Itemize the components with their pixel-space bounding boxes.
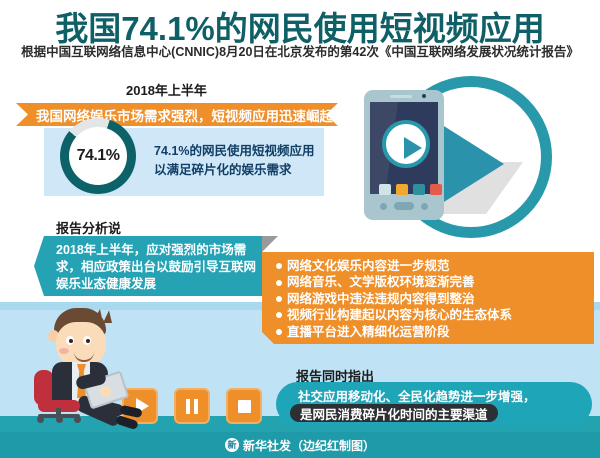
analysis-text: 2018年上半年，应对强烈的市场需求，相应政策出台以鼓励引导互联网娱乐业态健康发… [56, 242, 256, 293]
infographic-root: 我国74.1%的网民使用短视频应用 根据中国互联网络信息中心(CNNIC)8月2… [0, 0, 600, 458]
phone-speaker [390, 95, 412, 98]
phone-play-circle-icon [382, 120, 430, 168]
bullet-dot-icon [276, 263, 282, 269]
bullet-text: 网络文化娱乐内容进一步规范 [287, 258, 450, 274]
bullet-dot-icon [276, 329, 282, 335]
ribbon-fold-corner [262, 236, 278, 252]
conclusion-line1: 社交应用移动化、全民化趋势进一步增强， [298, 386, 536, 405]
bullet-text: 视频行业构建起以内容为核心的生态体系 [287, 307, 512, 323]
bullet-dot-icon [276, 280, 282, 286]
phone-app-tile-4 [430, 184, 442, 195]
list-item: 网络音乐、文学版权环境逐渐完善 [276, 274, 594, 290]
stat-description: 74.1%的网民使用短视频应用 以满足碎片化的娱乐需求 [154, 142, 314, 180]
phone-home-button [394, 202, 414, 210]
bullet-text: 直播平台进入精细化运营阶段 [287, 324, 450, 340]
bullet-panel: 网络文化娱乐内容进一步规范 网络音乐、文学版权环境逐渐完善 网络游戏中违法违规内… [262, 252, 594, 344]
footer-credit: 新华社发（边纪红制图） [243, 437, 375, 454]
stat-description-line1: 74.1%的网民使用短视频应用 [154, 142, 314, 161]
chair-wheel-2 [56, 416, 63, 423]
year-label: 2018年上半年 [126, 80, 207, 99]
phone-button-right [421, 203, 428, 210]
chair-wheel-1 [37, 416, 44, 423]
stat-description-line2: 以满足碎片化的娱乐需求 [154, 161, 314, 180]
smartphone-illustration [364, 90, 444, 220]
phone-camera-icon [422, 94, 426, 98]
phone-app-tile-3 [413, 184, 425, 195]
bullet-dot-icon [276, 312, 282, 318]
donut-chart: 74.1% [60, 118, 136, 194]
footer-band: 新 新华社发（边纪红制图） [0, 432, 600, 458]
video-illustration [340, 72, 600, 262]
donut-value-label: 74.1% [77, 147, 120, 165]
person-hand [100, 386, 111, 397]
person-pupil-right [86, 339, 90, 343]
person-cheek [59, 348, 69, 354]
list-item: 网络文化娱乐内容进一步规范 [276, 258, 594, 274]
list-item: 视频行业构建起以内容为核心的生态体系 [276, 307, 594, 323]
list-item: 网络游戏中违法违规内容得到整治 [276, 291, 594, 307]
analysis-box: 2018年上半年，应对强烈的市场需求，相应政策出台以鼓励引导互联网娱乐业态健康发… [34, 236, 262, 296]
donut-center: 74.1% [69, 127, 127, 185]
bullet-dot-icon [276, 296, 282, 302]
conclusion-box: 社交应用移动化、全民化趋势进一步增强， 是网民消费碎片化时间的主要渠道 [276, 382, 592, 426]
analysis-label: 报告分析说 [56, 218, 121, 237]
headline-ribbon: 我国网络娱乐市场需求强烈，短视频应用迅速崛起 [16, 103, 338, 126]
chair-wheel-3 [74, 416, 81, 423]
pause-button[interactable] [174, 388, 210, 424]
phone-app-tile-1 [379, 184, 391, 195]
bullet-list: 网络文化娱乐内容进一步规范 网络音乐、文学版权环境逐渐完善 网络游戏中违法违规内… [262, 252, 594, 340]
stop-button[interactable] [226, 388, 262, 424]
person-illustration [28, 308, 158, 424]
bullet-text: 网络音乐、文学版权环境逐渐完善 [287, 274, 475, 290]
agency-logo-icon: 新 [225, 438, 239, 452]
bullet-text: 网络游戏中违法违规内容得到整治 [287, 291, 475, 307]
footer-content: 新 新华社发（边纪红制图） [0, 432, 600, 458]
conclusion-highlight: 是网民消费碎片化时间的主要渠道 [290, 404, 498, 422]
phone-button-left [380, 203, 387, 210]
conclusion-line2: 是网民消费碎片化时间的主要渠道 [300, 404, 488, 423]
pause-icon [186, 399, 198, 414]
page-subtitle: 根据中国互联网络信息中心(CNNIC)8月20日在北京发布的第42次《中国互联网… [0, 41, 600, 60]
phone-play-triangle-icon [404, 137, 422, 159]
header: 我国74.1%的网民使用短视频应用 根据中国互联网络信息中心(CNNIC)8月2… [0, 0, 600, 66]
stop-icon [238, 400, 251, 413]
stat-card: 74.1% 74.1%的网民使用短视频应用 以满足碎片化的娱乐需求 [44, 128, 324, 196]
list-item: 直播平台进入精细化运营阶段 [276, 324, 594, 340]
person-pupil-left [69, 339, 73, 343]
phone-app-tile-2 [396, 184, 408, 195]
phone-screen [370, 102, 438, 194]
